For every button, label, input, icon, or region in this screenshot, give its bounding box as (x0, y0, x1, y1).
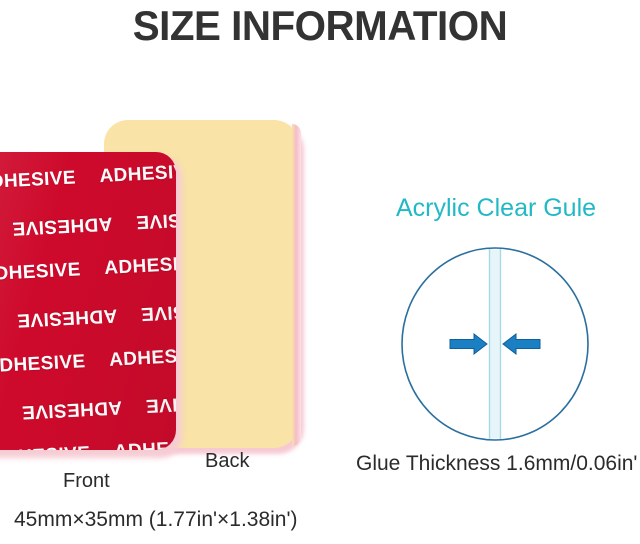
adhesive-watermark-text: ADHESIVE (135, 205, 176, 232)
adhesive-watermark-text: ADHESIVE (145, 389, 176, 416)
glue-thickness-caption: Glue Thickness 1.6mm/0.06in' (356, 452, 637, 476)
adhesive-watermark-text: ADHESIVE (12, 212, 113, 239)
adhesive-watermark-text: ADHESIVE (99, 161, 176, 188)
back-card-label: Back (205, 450, 249, 473)
glue-circle-graphic (400, 246, 590, 442)
adhesive-watermark-text: ADHESIVE (0, 351, 86, 378)
adhesive-watermark-text: ADHESIVE (109, 345, 176, 372)
front-card-label: Front (63, 470, 110, 493)
adhesive-watermark-text: ADHESIVE (21, 395, 122, 422)
adhesive-watermark-text: ADHESIVE (0, 167, 77, 194)
adhesive-watermark-text: ADHESIVE (0, 259, 81, 286)
back-card-pink-edge (292, 124, 301, 446)
glue-thickness-diagram: Acrylic Clear Gule Glue Thickness 1.6mm/… (340, 190, 640, 490)
glue-title: Acrylic Clear Gule (396, 194, 596, 223)
adhesive-watermark-text: ADHESIVE (0, 443, 91, 450)
adhesive-watermark-text: ADHESIVE (16, 303, 117, 330)
adhesive-pad-illustration: ADHESIVEADHESIVEADHESIVEADHESIVEADHESIVE… (0, 110, 330, 544)
adhesive-watermark-text: ADHESIVE (104, 253, 176, 280)
front-card: ADHESIVEADHESIVEADHESIVEADHESIVEADHESIVE… (0, 152, 176, 450)
adhesive-watermark-layer: ADHESIVEADHESIVEADHESIVEADHESIVEADHESIVE… (0, 152, 176, 450)
glue-circle-svg (400, 246, 590, 442)
adhesive-watermark-text: ADHESIVE (113, 437, 176, 450)
page-title: SIZE INFORMATION (13, 2, 627, 50)
glue-band (489, 250, 501, 439)
dimension-caption: 45mm×35mm (1.77in'×1.38in') (14, 508, 298, 532)
adhesive-watermark-text: ADHESIVE (140, 297, 176, 324)
